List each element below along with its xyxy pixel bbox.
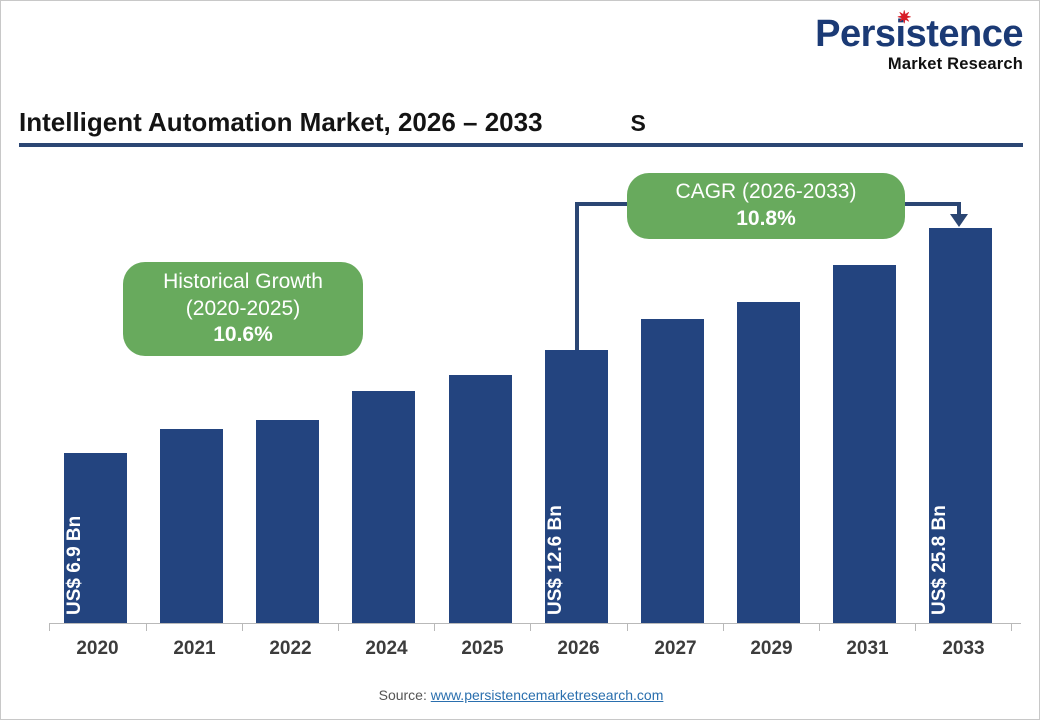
source-link[interactable]: www.persistencemarketresearch.com — [431, 687, 664, 703]
plot-area: US$ 6.9 Bn US$ 12.6 Bn US$ 25.8 Bn 2020 … — [1, 1, 1040, 720]
cagr-title: CAGR (2026-2033) — [676, 179, 857, 206]
cagr-left-horizontal-connector — [575, 202, 635, 206]
x-axis-tick — [1011, 623, 1012, 631]
cagr-value: 10.8% — [736, 206, 796, 233]
x-tick-label-2029: 2029 — [723, 638, 820, 660]
cagr-left-vertical-connector — [575, 202, 579, 352]
bar-2031 — [833, 265, 896, 623]
x-tick-label-2024: 2024 — [338, 638, 435, 660]
x-axis-tick — [627, 623, 628, 631]
bar-label-2020: US$ 6.9 Bn — [64, 516, 86, 615]
historical-growth-title: Historical Growth — [163, 269, 323, 296]
chart-canvas: Persistence ✷ Market Research Intelligen… — [0, 0, 1040, 720]
x-axis-line — [49, 623, 1021, 624]
x-tick-label-2026: 2026 — [530, 638, 627, 660]
x-tick-label-2025: 2025 — [434, 638, 531, 660]
historical-growth-callout: Historical Growth (2020-2025) 10.6% — [123, 262, 363, 356]
x-axis-tick — [49, 623, 50, 631]
x-axis-tick — [338, 623, 339, 631]
x-tick-label-2020: 2020 — [49, 638, 146, 660]
historical-growth-period: (2020-2025) — [186, 296, 300, 323]
historical-growth-value: 10.6% — [213, 322, 273, 349]
x-tick-label-2021: 2021 — [146, 638, 243, 660]
x-axis-tick — [915, 623, 916, 631]
bar-2021 — [160, 429, 223, 623]
x-axis-tick — [723, 623, 724, 631]
x-axis-tick — [530, 623, 531, 631]
x-tick-label-2031: 2031 — [819, 638, 916, 660]
x-axis-tick — [242, 623, 243, 631]
bar-label-2033: US$ 25.8 Bn — [929, 505, 951, 615]
source-line: Source: www.persistencemarketresearch.co… — [1, 687, 1040, 703]
x-tick-label-2027: 2027 — [627, 638, 724, 660]
x-tick-label-2022: 2022 — [242, 638, 339, 660]
cagr-right-horizontal-connector — [897, 202, 961, 206]
bar-2027 — [641, 319, 704, 623]
x-axis-tick — [434, 623, 435, 631]
bar-2022 — [256, 420, 319, 623]
bar-2025 — [449, 375, 512, 623]
cagr-callout: CAGR (2026-2033) 10.8% — [627, 173, 905, 239]
bar-label-2026: US$ 12.6 Bn — [545, 505, 567, 615]
bar-2029 — [737, 302, 800, 623]
x-tick-label-2033: 2033 — [915, 638, 1012, 660]
source-prefix: Source: — [379, 687, 431, 703]
cagr-arrowhead-icon — [950, 214, 968, 227]
bar-2024 — [352, 391, 415, 623]
x-axis-tick — [819, 623, 820, 631]
x-axis-tick — [146, 623, 147, 631]
